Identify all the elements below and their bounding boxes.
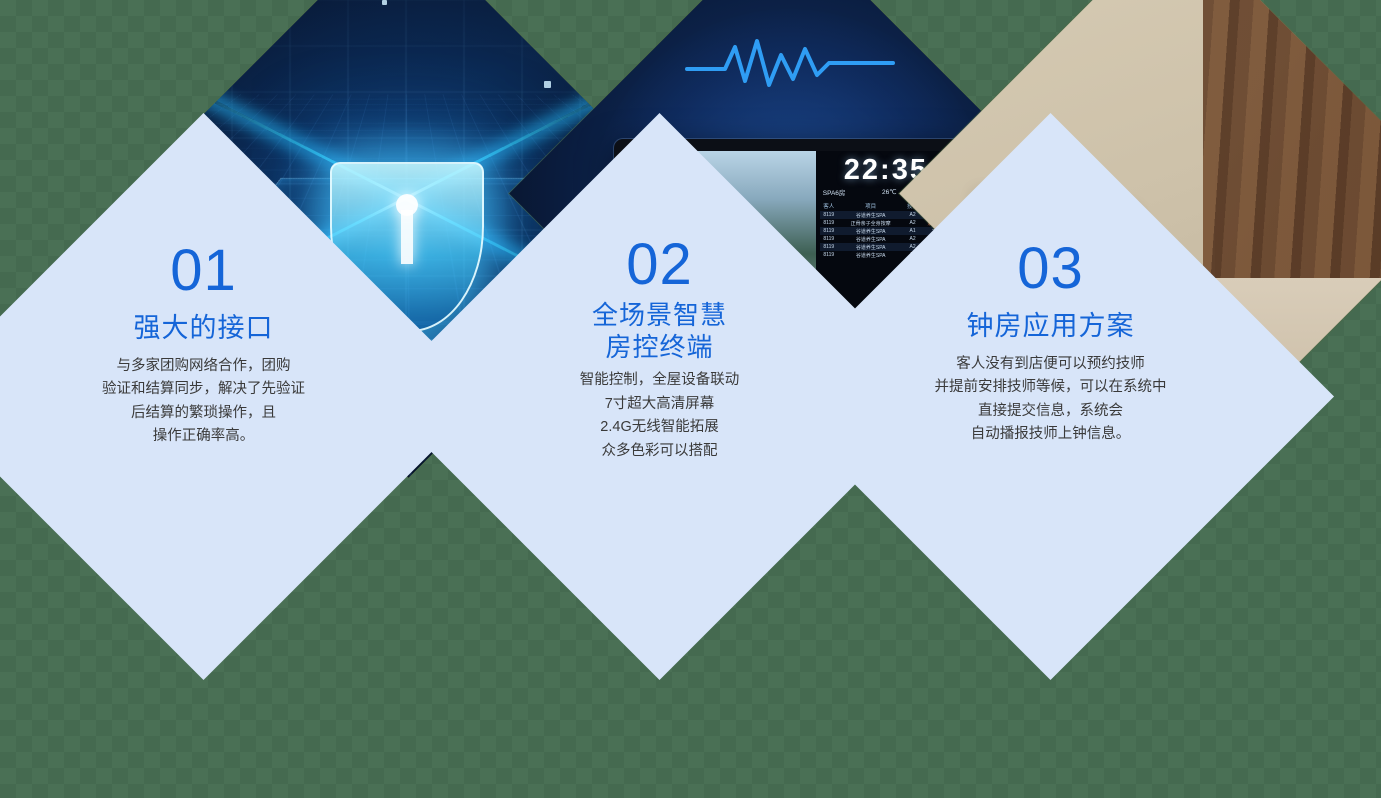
card-number: 02 xyxy=(626,236,693,294)
feature-card-03[interactable]: 03 钟房应用方案 客人没有到店便可以预约技师 并提前安排技师等候，可以在系统中… xyxy=(767,113,1334,680)
heartbeat-icon xyxy=(685,35,895,91)
card-title: 强大的接口 xyxy=(134,312,274,345)
card-description: 客人没有到店便可以预约技师 并提前安排技师等候，可以在系统中 直接提交信息，系统… xyxy=(935,353,1167,447)
sparkle xyxy=(544,81,551,88)
card-title: 全场景智慧 房控终端 xyxy=(592,300,727,363)
card-description: 与多家团购网络合作，团购 验证和结算同步，解决了先验证 后结算的繁琐操作，且 操… xyxy=(102,355,305,449)
sparkle xyxy=(382,0,387,5)
feature-diamond-board: 呼叫服务 灯光音乐 ▣ 空调26 服务模式 22:35 SPA6房 xyxy=(0,0,1381,603)
card-description: 智能控制，全屋设备联动 7寸超大高清屏幕 2.4G无线智能拓展 众多色彩可以搭配 xyxy=(580,369,740,463)
temperature-label: 26℃ xyxy=(882,188,897,196)
card-number: 03 xyxy=(1017,240,1084,298)
card-title: 钟房应用方案 xyxy=(967,310,1135,343)
card-number: 01 xyxy=(170,242,237,300)
sparkle xyxy=(243,46,252,55)
